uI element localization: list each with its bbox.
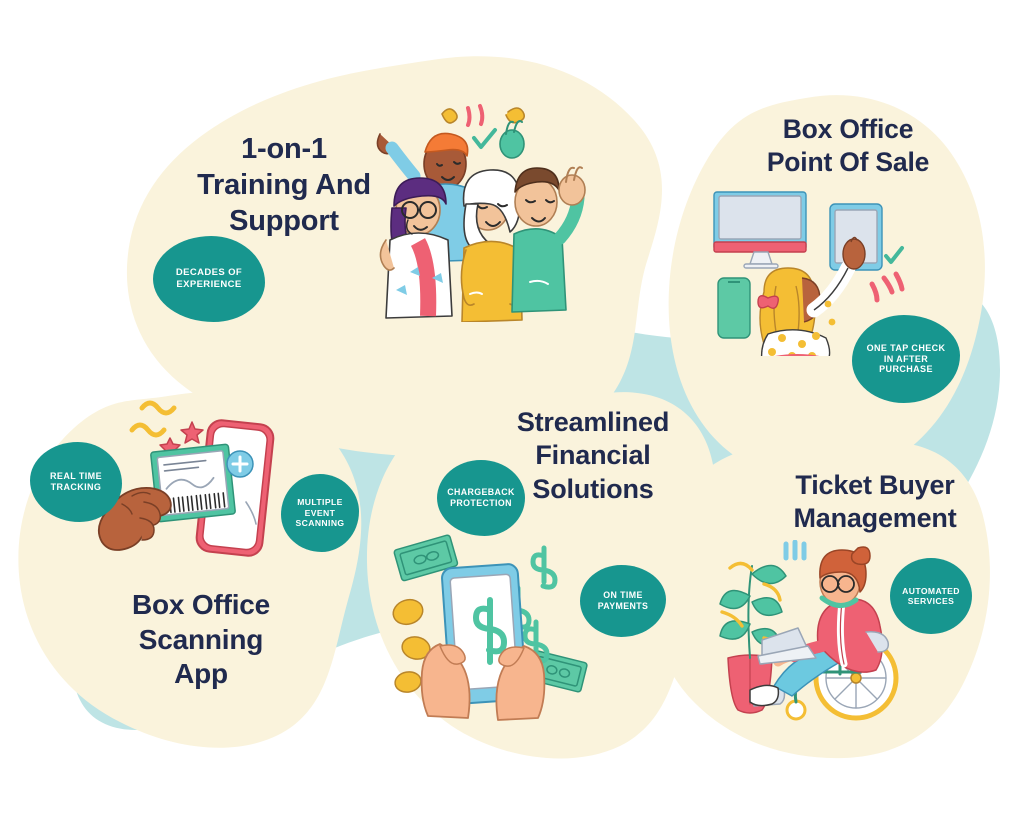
check-mark	[886, 248, 902, 262]
feature-title-point-of-sale: Box Office Point Of Sale	[733, 113, 963, 179]
feature-title-training-support: 1-on-1 Training And Support	[175, 132, 393, 240]
badge-multiple-event-scanning[interactable]: MULTIPLE EVENT SCANNING	[281, 474, 359, 552]
squiggle-1	[142, 403, 174, 413]
illustration-group-of-people-celebrating	[370, 82, 590, 322]
tapping-hand	[843, 239, 865, 269]
badge-real-time-tracking[interactable]: REAL TIME TRACKING	[30, 442, 122, 522]
illustration-wheelchair-user-laptop	[700, 540, 920, 730]
squiggle-2	[132, 425, 164, 435]
hair-bow	[758, 296, 778, 309]
infographic-canvas: 1-on-1 Training And Support DECADES OF E…	[0, 0, 1024, 819]
green-phone	[718, 278, 750, 338]
monitor-screen	[719, 196, 801, 239]
illustration-mobile-payment	[384, 522, 594, 722]
hair-bun	[852, 547, 870, 564]
star-1	[181, 422, 203, 443]
monitor-stand	[750, 252, 772, 264]
illustration-barcode-scanning	[96, 396, 296, 586]
feature-title-ticket-buyer-management: Ticket Buyer Management	[766, 469, 984, 536]
accent-marks	[786, 542, 804, 558]
shoe	[750, 685, 778, 705]
monitor-base-accent	[714, 242, 806, 252]
feature-title-scanning-app: Box Office Scanning App	[92, 588, 310, 692]
badge-chargeback-protection[interactable]: CHARGEBACK PROTECTION	[437, 460, 525, 536]
wheelchair-caster	[787, 701, 805, 719]
badge-decades-of-experience[interactable]: DECADES OF EXPERIENCE	[153, 236, 265, 322]
badge-automated-services[interactable]: AUTOMATED SERVICES	[890, 558, 972, 634]
